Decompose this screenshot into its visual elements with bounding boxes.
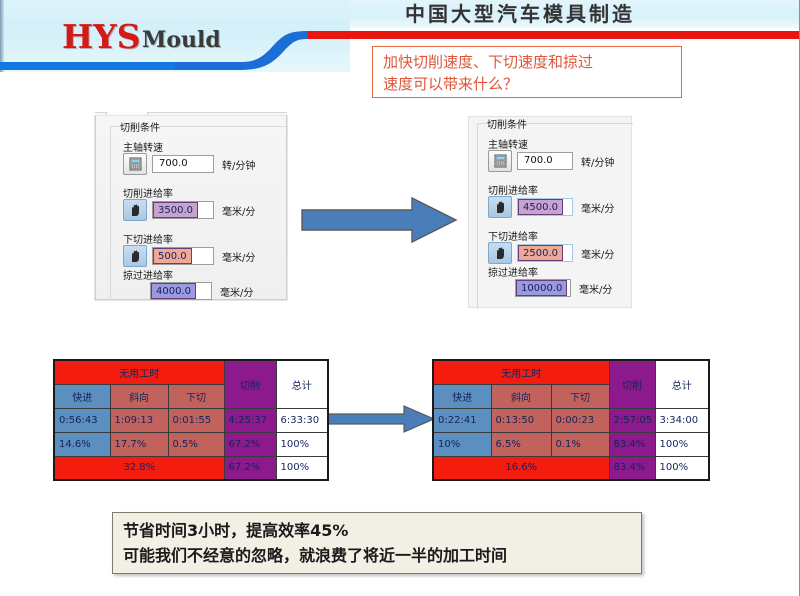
plunge-feed-input[interactable]: 2500.0 (517, 244, 573, 262)
summary-cut: 67.2% (224, 456, 276, 480)
field-label: 主轴转速 (123, 139, 163, 154)
field-label: 切削进给率 (488, 182, 538, 197)
subheader-rapid: 快进 (54, 384, 110, 408)
field-value: 4000.0 (151, 283, 196, 299)
hand-icon[interactable] (123, 245, 147, 267)
logo-hys: HYS (62, 17, 141, 56)
spindle-speed-input[interactable]: 700.0 (152, 155, 214, 173)
field-label: 掠过进给率 (488, 264, 538, 279)
table-row: 0:56:43 1:09:13 0:01:55 4:25:37 6:33:30 (54, 408, 328, 432)
question-line-2: 速度可以带来什么？ (383, 73, 673, 95)
icon-placeholder (488, 278, 515, 298)
cutting-conditions-dialog-after: 切削条件 主轴转速 700.0 转/分钟 切削进给率 (468, 116, 632, 308)
cell-time-cut: 4:25:37 (224, 408, 276, 432)
table-row: 14.6% 17.7% 0.5% 67.2% 100% (54, 432, 328, 456)
field-value: 4500.0 (518, 199, 563, 215)
cell-pct-total: 100% (655, 432, 709, 456)
machine-icon[interactable] (488, 150, 512, 172)
cell-pct-rapid: 10% (433, 432, 491, 456)
summary-idle: 32.8% (54, 456, 224, 480)
field-value: 3500.0 (153, 202, 198, 218)
cell-pct-cut: 67.2% (224, 432, 276, 456)
subheader-plunge: 下切 (551, 384, 609, 408)
table-row: 0:22:41 0:13:50 0:00:23 2:57:05 3:34:00 (433, 408, 709, 432)
field-unit: 毫米/分 (222, 203, 255, 218)
total-column-header: 总计 (655, 360, 709, 408)
cut-column-header: 切削 (224, 360, 276, 408)
field-label: 掠过进给率 (123, 267, 173, 282)
total-column-header: 总计 (276, 360, 328, 408)
spindle-speed-input[interactable]: 700.0 (517, 152, 573, 170)
field-label: 切削进给率 (123, 185, 173, 200)
field-unit: 毫米/分 (581, 200, 614, 215)
field-label: 下切进给率 (488, 228, 538, 243)
cell-time-rapid: 0:56:43 (54, 408, 110, 432)
icon-placeholder (123, 281, 150, 301)
field-unit: 毫米/分 (222, 249, 255, 264)
table-row: 32.8% 67.2% 100% (54, 456, 328, 480)
cell-pct-rapid: 14.6% (54, 432, 110, 456)
field-value: 700.0 (518, 153, 553, 169)
field-label: 下切进给率 (123, 231, 173, 246)
summary-idle: 16.6% (433, 456, 609, 480)
timing-table-before: 无用工时 切削 总计 快进 斜向 下切 0:56:43 1:09:13 0:01… (53, 359, 329, 481)
cell-pct-plunge: 0.5% (168, 432, 224, 456)
question-callout: 加快切削速度、下切速度和掠过 速度可以带来什么？ (372, 46, 682, 98)
summary-total: 100% (276, 456, 328, 480)
cell-time-rapid: 0:22:41 (433, 408, 491, 432)
cut-column-header: 切削 (609, 360, 655, 408)
table-row: 16.6% 83.4% 100% (433, 456, 709, 480)
cell-time-plunge: 0:00:23 (551, 408, 609, 432)
cell-time-total: 3:34:00 (655, 408, 709, 432)
field-unit: 毫米/分 (220, 284, 253, 299)
cell-time-ramp: 1:09:13 (110, 408, 168, 432)
table-row: 无用工时 切削 总计 (54, 360, 328, 384)
field-unit: 转/分钟 (581, 154, 614, 169)
skim-feed-input[interactable]: 10000.0 (515, 279, 571, 297)
cell-pct-cut: 83.4% (609, 432, 655, 456)
field-value: 700.0 (153, 156, 188, 172)
table-row: 10% 6.5% 0.1% 83.4% 100% (433, 432, 709, 456)
idle-group-header: 无用工时 (433, 360, 609, 384)
transition-arrow-tables (318, 404, 436, 434)
note-line-1: 节省时间3小时，提高效率45% (123, 518, 631, 543)
cell-time-cut: 2:57:05 (609, 408, 655, 432)
subheader-ramp: 斜向 (491, 384, 551, 408)
hand-icon[interactable] (488, 242, 512, 264)
field-unit: 转/分钟 (222, 157, 255, 172)
group-title-before: 切削条件 (117, 119, 163, 134)
cell-pct-ramp: 17.7% (110, 432, 168, 456)
field-unit: 毫米/分 (581, 246, 614, 261)
cutting-conditions-group-before: 切削条件 主轴转速 700.0 转/分钟 切削进给率 (110, 126, 288, 300)
field-value: 500.0 (153, 248, 192, 264)
cell-pct-ramp: 6.5% (491, 432, 551, 456)
slide-canvas: 中国大型汽车模具制造 HYS Mould 加快切削速度、下切速度和掠过 速度可以… (0, 0, 800, 596)
summary-cut: 83.4% (609, 456, 655, 480)
cell-time-plunge: 0:01:55 (168, 408, 224, 432)
cutting-conditions-group-after: 切削条件 主轴转速 700.0 转/分钟 切削进给率 (477, 123, 633, 309)
field-value: 10000.0 (516, 280, 567, 296)
machine-icon[interactable] (123, 153, 147, 175)
field-label: 主轴转速 (488, 136, 528, 151)
subheader-plunge: 下切 (168, 384, 224, 408)
skim-feed-input[interactable]: 4000.0 (150, 282, 212, 300)
cell-time-ramp: 0:13:50 (491, 408, 551, 432)
field-unit: 毫米/分 (579, 281, 612, 296)
subheader-ramp: 斜向 (110, 384, 168, 408)
summary-total: 100% (655, 456, 709, 480)
conclusion-note: 节省时间3小时，提高效率45% 可能我们不经意的忽略，就浪费了将近一半的加工时间 (112, 512, 642, 574)
idle-group-header: 无用工时 (54, 360, 224, 384)
transition-arrow-dialogs (300, 196, 460, 244)
hand-icon[interactable] (488, 196, 512, 218)
cutting-conditions-dialog-before: 切削条件 主轴转速 700.0 转/分钟 切削进给率 (95, 116, 287, 300)
note-line-2: 可能我们不经意的忽略，就浪费了将近一半的加工时间 (123, 543, 631, 568)
cutting-feed-input[interactable]: 3500.0 (152, 201, 214, 219)
cutting-feed-input[interactable]: 4500.0 (517, 198, 573, 216)
plunge-feed-input[interactable]: 500.0 (152, 247, 214, 265)
group-title-after: 切削条件 (484, 116, 530, 131)
cell-pct-plunge: 0.1% (551, 432, 609, 456)
table-row: 无用工时 切削 总计 (433, 360, 709, 384)
question-line-1: 加快切削速度、下切速度和掠过 (383, 51, 673, 73)
hand-icon[interactable] (123, 199, 147, 221)
cell-pct-total: 100% (276, 432, 328, 456)
subheader-rapid: 快进 (433, 384, 491, 408)
field-value: 2500.0 (518, 245, 563, 261)
logo-mould: Mould (142, 27, 221, 53)
cell-time-total: 6:33:30 (276, 408, 328, 432)
timing-table-after: 无用工时 切削 总计 快进 斜向 下切 0:22:41 0:13:50 0:00… (432, 359, 710, 481)
